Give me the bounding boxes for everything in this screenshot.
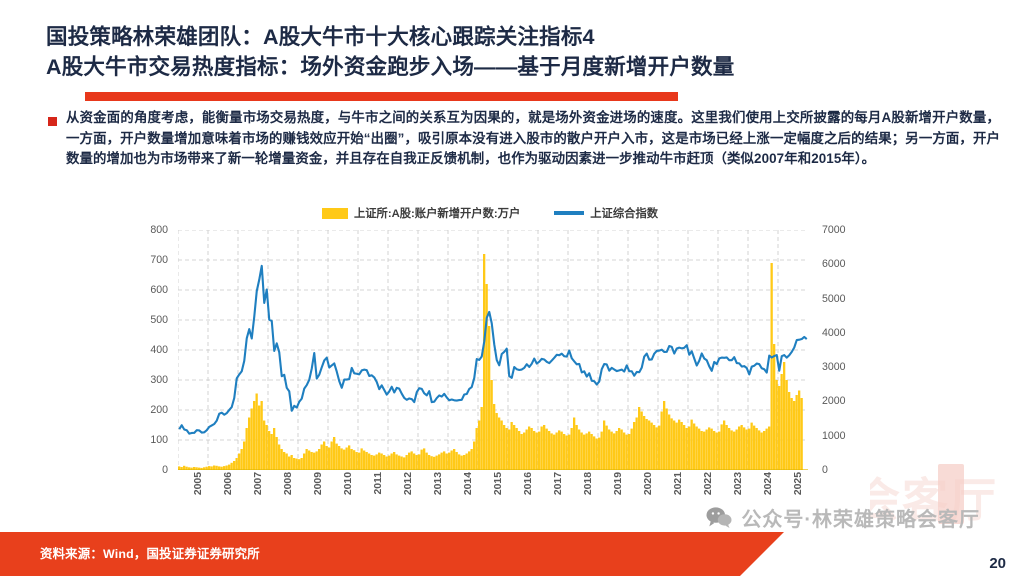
x-tick: 2025 (793, 472, 804, 495)
y-left-tick: 0 (162, 464, 168, 476)
x-tick: 2006 (223, 472, 234, 495)
y-axis-right: 01000200030004000500060007000 (822, 230, 862, 470)
y-left-tick: 300 (150, 374, 168, 386)
y-left-tick: 200 (150, 404, 168, 416)
y-right-tick: 3000 (822, 361, 846, 373)
x-tick: 2007 (253, 472, 264, 495)
chart-plot-area: 0100200300400500600700800 01000200030004… (110, 230, 870, 490)
x-tick: 2022 (703, 472, 714, 495)
x-tick: 2021 (673, 472, 684, 495)
y-right-tick: 7000 (822, 224, 846, 236)
footer: 资料来源：Wind，国投证券证券研究所 (0, 532, 1024, 576)
chart-container: 上证所:A股:账户新增开户数:万户 上证综合指数 010020030040050… (110, 196, 870, 526)
y-left-tick: 800 (150, 224, 168, 236)
x-tick: 2010 (343, 472, 354, 495)
x-tick: 2020 (643, 472, 654, 495)
bullet-marker-icon (48, 117, 57, 126)
page-title: 国投策略林荣雄团队：A股大牛市十大核心跟踪关注指标4 A股大牛市交易热度指标：场… (46, 22, 1014, 82)
legend-label-bars: 上证所:A股:账户新增开户数:万户 (354, 205, 520, 221)
x-tick: 2011 (373, 472, 384, 495)
x-tick: 2018 (583, 472, 594, 495)
y-left-tick: 100 (150, 434, 168, 446)
y-right-tick: 5000 (822, 293, 846, 305)
x-tick: 2005 (193, 472, 204, 495)
bar-series (178, 254, 803, 470)
y-left-tick: 500 (150, 314, 168, 326)
y-right-tick: 4000 (822, 327, 846, 339)
y-right-tick: 0 (822, 464, 828, 476)
chart-legend: 上证所:A股:账户新增开户数:万户 上证综合指数 (110, 200, 870, 226)
page-number: 20 (989, 555, 1006, 572)
x-tick: 2012 (403, 472, 414, 495)
x-tick: 2009 (313, 472, 324, 495)
x-tick: 2008 (283, 472, 294, 495)
title-line-2: A股大牛市交易热度指标：场外资金跑步入场——基于月度新增开户数量 (46, 52, 1014, 82)
watermark-text: 公众号·林荣雄策略会客厅 (741, 503, 980, 532)
watermark: 公众号·林荣雄策略会客厅 (706, 503, 980, 532)
legend-label-line: 上证综合指数 (590, 205, 658, 221)
x-tick: 2014 (463, 472, 474, 495)
slide-root: 略会客厅 国投策略林荣雄团队：A股大牛市十大核心跟踪关注指标4 A股大牛市交易热… (0, 0, 1024, 576)
title-underline (85, 92, 678, 101)
body-paragraph-block: 从资金面的角度考虑，能衡量市场交易热度，与牛市之间的关系互为因果的，就是场外资金… (48, 108, 1000, 170)
body-paragraph: 从资金面的角度考虑，能衡量市场交易热度，与牛市之间的关系互为因果的，就是场外资金… (66, 108, 1000, 170)
x-tick: 2024 (763, 472, 774, 495)
x-tick: 2019 (613, 472, 624, 495)
title-line-1: 国投策略林荣雄团队：A股大牛市十大核心跟踪关注指标4 (46, 22, 1014, 52)
x-tick: 2013 (433, 472, 444, 495)
y-left-tick: 400 (150, 344, 168, 356)
x-tick: 2015 (493, 472, 504, 495)
legend-swatch-bar-icon (322, 208, 348, 219)
x-tick: 2016 (523, 472, 534, 495)
chart-canvas (178, 230, 808, 470)
x-tick: 2017 (553, 472, 564, 495)
x-tick: 2023 (733, 472, 744, 495)
legend-item-line: 上证综合指数 (554, 205, 658, 221)
y-left-tick: 700 (150, 254, 168, 266)
y-left-tick: 600 (150, 284, 168, 296)
legend-item-bars: 上证所:A股:账户新增开户数:万户 (322, 205, 520, 221)
wechat-icon (706, 507, 732, 528)
y-right-tick: 6000 (822, 258, 846, 270)
y-axis-left: 0100200300400500600700800 (128, 230, 168, 470)
legend-swatch-line-icon (554, 211, 584, 214)
y-right-tick: 1000 (822, 430, 846, 442)
footer-source-text: 资料来源：Wind，国投证券证券研究所 (40, 544, 260, 562)
y-right-tick: 2000 (822, 395, 846, 407)
